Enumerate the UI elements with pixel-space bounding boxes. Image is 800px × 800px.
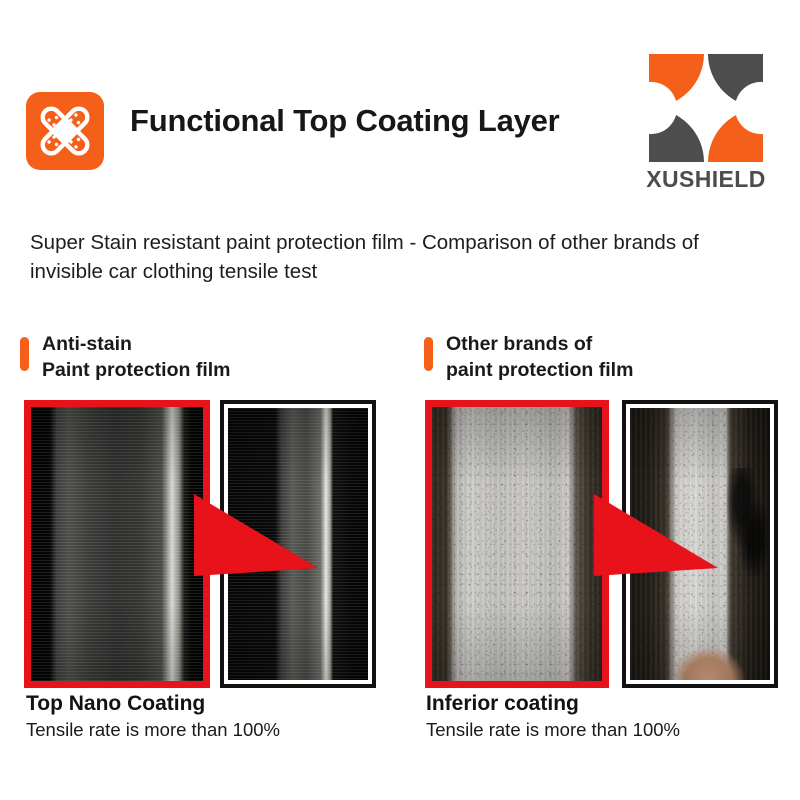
crossed-bandages-icon: [26, 92, 104, 170]
photo-shading-overlay: [432, 407, 602, 681]
photo-grain-overlay: [630, 408, 770, 680]
photo-panel-other-brands-closeup: [425, 400, 609, 688]
caption-title: Top Nano Coating: [26, 692, 280, 717]
caption-subtitle: Tensile rate is more than 100%: [26, 718, 280, 742]
caption-other-brands: Inferior coating Tensile rate is more th…: [426, 692, 680, 742]
photo-dark-nano-coated-film-wide: [228, 408, 368, 680]
brand-logo: XUSHIELD: [643, 52, 769, 194]
heading-line-2: Paint protection film: [42, 358, 231, 384]
photo-shading-overlay: [228, 408, 368, 680]
heading-text-anti-stain: Anti-stain Paint protection film: [42, 332, 231, 383]
heading-line-2: paint protection film: [446, 358, 633, 384]
photo-hazy-inferior-film-wide: [630, 408, 770, 680]
photo-panel-anti-stain-closeup: [24, 400, 210, 688]
page-title: Functional Top Coating Layer: [130, 104, 630, 138]
heading-text-other-brands: Other brands of paint protection film: [446, 332, 633, 383]
infographic-page: Functional Top Coating Layer: [0, 0, 800, 800]
photo-panel-other-brands-wide: [622, 400, 778, 688]
photo-dark-nano-coated-film-closeup: [31, 407, 203, 681]
photo-panel-anti-stain-wide: [220, 400, 376, 688]
xushield-butterfly-logo-icon: [647, 52, 765, 164]
brand-name: XUSHIELD: [643, 166, 769, 193]
photo-hazy-inferior-film-closeup: [432, 407, 602, 681]
photo-grain-overlay: [432, 407, 602, 681]
heading-line-1: Other brands of: [446, 332, 633, 358]
caption-anti-stain: Top Nano Coating Tensile rate is more th…: [26, 692, 280, 742]
caption-title: Inferior coating: [426, 692, 680, 717]
photo-background-cables: [725, 468, 767, 577]
heading-accent-bar: [20, 337, 29, 371]
photo-shading-overlay: [31, 407, 203, 681]
subtitle-text: Super Stain resistant paint protection f…: [30, 228, 765, 286]
header: Functional Top Coating Layer: [0, 0, 800, 205]
photo-shading-overlay: [630, 408, 770, 680]
photo-hand-holding-film: [672, 647, 745, 680]
heading-accent-bar: [424, 337, 433, 371]
caption-subtitle: Tensile rate is more than 100%: [426, 718, 680, 742]
heading-line-1: Anti-stain: [42, 332, 231, 358]
